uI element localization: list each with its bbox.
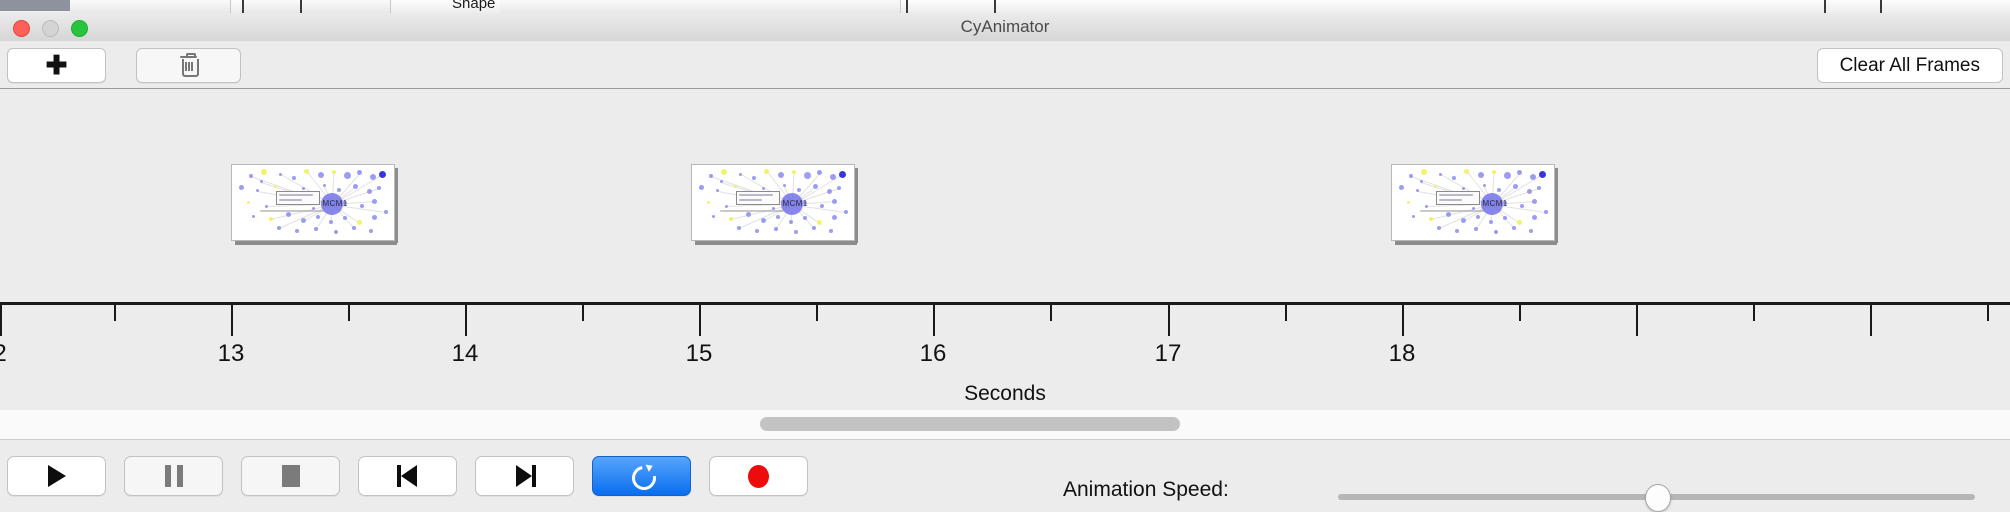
ruler-major-tick [699, 305, 701, 336]
network-node [334, 230, 338, 234]
network-node [1476, 215, 1480, 219]
network-node [274, 185, 277, 188]
network-node [844, 210, 848, 214]
frame-track[interactable]: MCM1MCM1MCM1 [0, 89, 2010, 302]
network-tooltip-text-line [1439, 199, 1462, 201]
network-node [302, 187, 305, 190]
network-node [377, 186, 381, 190]
ruler-tick-label: 14 [452, 340, 479, 368]
animation-speed-slider[interactable] [1338, 494, 1975, 500]
network-node [372, 199, 377, 204]
network-node [265, 205, 268, 208]
add-frame-button[interactable]: ✚ [7, 48, 106, 83]
network-node [301, 218, 306, 223]
ruler-minor-tick [348, 305, 350, 321]
network-node [761, 218, 766, 223]
network-node [1464, 169, 1469, 174]
network-node [1412, 215, 1415, 218]
window-title: CyAnimator [0, 13, 2010, 41]
ruler-minor-tick [816, 305, 818, 321]
record-icon [748, 465, 769, 488]
network-node [1504, 172, 1511, 179]
network-node [794, 230, 798, 234]
network-node [1437, 226, 1441, 230]
ruler-major-tick [231, 305, 233, 336]
network-node [739, 173, 742, 176]
network-node [1474, 227, 1478, 231]
network-node [830, 174, 836, 180]
network-node [269, 217, 273, 221]
network-node [318, 172, 324, 178]
network-node [812, 226, 816, 230]
frame-thumbnail: MCM1 [231, 164, 395, 241]
network-node [329, 220, 333, 224]
ruler-tick-label: 17 [1155, 340, 1182, 368]
timeline-frame[interactable]: MCM1 [691, 164, 853, 239]
timeline-frame[interactable]: MCM1 [1391, 164, 1553, 239]
background-selected-tab [0, 0, 70, 11]
background-divider [906, 0, 908, 13]
ruler-minor-tick [1285, 305, 1287, 321]
network-node [797, 188, 801, 192]
network-node [729, 217, 733, 221]
ruler-tick-label: 15 [686, 340, 713, 368]
toolbar: ✚ Clear All Frames [0, 41, 2010, 88]
network-node [725, 205, 728, 208]
loop-icon [630, 464, 654, 488]
stop-button[interactable] [241, 456, 340, 496]
network-node [1544, 210, 1548, 214]
network-node [344, 172, 351, 179]
ruler-tick-label: 13 [218, 340, 245, 368]
background-divider [1880, 0, 1882, 13]
ruler-major-tick [1168, 305, 1170, 336]
network-node [295, 229, 299, 233]
frame-thumbnail: MCM1 [1391, 164, 1555, 241]
cyanimator-window: Shape CyAnimator ✚ Clear All Frames MCM1… [0, 0, 2010, 510]
network-node [804, 172, 811, 179]
network-node [1492, 170, 1496, 174]
network-node [783, 184, 786, 187]
network-node [316, 215, 320, 219]
plus-icon: ✚ [46, 52, 68, 78]
network-node [260, 180, 263, 183]
network-node [792, 170, 796, 174]
timeline-frame[interactable]: MCM1 [231, 164, 393, 239]
frame-thumbnail: MCM1 [691, 164, 855, 241]
network-node [829, 229, 833, 233]
network-node [1455, 229, 1459, 233]
network-node [369, 229, 373, 233]
network-tooltip-text-line [1439, 194, 1473, 196]
play-button[interactable] [7, 456, 106, 496]
network-node [774, 227, 778, 231]
network-node [832, 199, 837, 204]
network-node [755, 229, 759, 233]
network-node [839, 171, 846, 178]
network-node [1529, 229, 1533, 233]
network-node [817, 170, 822, 175]
network-node [252, 215, 255, 218]
ruler-major-tick [0, 305, 2, 336]
ruler-minor-tick [1519, 305, 1521, 321]
network-node [379, 171, 386, 178]
network-node [370, 174, 376, 180]
network-node [304, 169, 309, 174]
network-node [1497, 188, 1501, 192]
network-node [1434, 185, 1437, 188]
animation-speed-label: Animation Speed: [1063, 478, 1229, 502]
network-node [1407, 201, 1410, 204]
network-node [752, 176, 756, 180]
timeline-scrollbar[interactable] [0, 410, 2010, 440]
network-node [337, 188, 341, 192]
network-node [314, 227, 318, 231]
network-tooltip-text-line [279, 199, 302, 201]
network-node [277, 226, 281, 230]
network-tooltip-box [736, 191, 780, 205]
stop-icon [282, 465, 300, 487]
network-node [261, 169, 267, 175]
network-node [1461, 218, 1466, 223]
title-bar: CyAnimator [0, 13, 2010, 42]
ruler-major-tick [465, 305, 467, 336]
ruler-tick-label: 18 [1389, 340, 1416, 368]
network-node [1425, 205, 1428, 208]
network-node [1520, 204, 1524, 208]
network-node [817, 220, 822, 225]
next-frame-button[interactable] [475, 456, 574, 496]
network-node [1452, 176, 1456, 180]
network-node [832, 215, 837, 220]
network-node [286, 212, 291, 217]
ruler-major-tick [1870, 305, 1872, 336]
playback-toolbar: Animation Speed: [0, 439, 2010, 511]
ruler-major-tick [933, 305, 935, 336]
pause-icon [165, 465, 183, 487]
background-window-strip: Shape [0, 0, 2010, 13]
network-node [827, 189, 832, 194]
network-node [1530, 174, 1536, 180]
network-hub-label: MCM1 [1482, 199, 1507, 208]
network-node [820, 204, 824, 208]
network-tooltip-box [1436, 191, 1480, 205]
play-icon [48, 465, 66, 487]
animation-speed-knob[interactable] [1645, 484, 1671, 512]
network-node [360, 204, 364, 208]
network-node [1517, 170, 1522, 175]
trash-icon [180, 56, 197, 76]
network-node [357, 220, 362, 225]
network-node [1429, 217, 1433, 221]
network-tooltip-text-line [739, 194, 773, 196]
background-window-label: Shape [452, 0, 495, 12]
background-tab [70, 0, 171, 13]
network-node [734, 185, 737, 188]
network-tooltip-box [276, 191, 320, 205]
network-node [1446, 212, 1451, 217]
ruler-minor-tick [114, 305, 116, 321]
network-node [762, 187, 765, 190]
scrollbar-thumb[interactable] [760, 417, 1180, 431]
loop-button[interactable] [592, 456, 691, 496]
network-node [1539, 171, 1546, 178]
ruler-axis-line [0, 302, 2010, 305]
skip-next-icon [514, 465, 536, 487]
background-tab [170, 0, 231, 13]
network-node [699, 185, 704, 190]
background-tab [300, 0, 391, 13]
network-node [1532, 199, 1537, 204]
network-node [764, 169, 769, 174]
network-node [1494, 230, 1498, 234]
network-node [837, 186, 841, 190]
network-node [1537, 186, 1541, 190]
ruler-minor-tick [582, 305, 584, 321]
ruler-tick-label: 2 [0, 340, 7, 368]
network-node [239, 185, 244, 190]
network-node [1439, 173, 1442, 176]
clear-all-frames-button[interactable]: Clear All Frames [1817, 48, 2003, 83]
ruler-minor-tick [1753, 305, 1755, 321]
network-node [1462, 187, 1465, 190]
ruler-major-tick [1636, 305, 1638, 336]
skip-previous-icon [397, 465, 419, 487]
ruler-minor-tick [1050, 305, 1052, 321]
ruler-minor-tick [1987, 305, 1989, 321]
network-node [721, 169, 727, 175]
network-node [737, 226, 741, 230]
network-node [352, 226, 356, 230]
network-node [1527, 189, 1532, 194]
network-node [323, 184, 326, 187]
network-node [1517, 220, 1522, 225]
ruler-tick-label: 16 [920, 340, 947, 368]
network-node [1483, 184, 1486, 187]
network-node [332, 170, 336, 174]
ruler-major-tick [1402, 305, 1404, 336]
network-node [1399, 185, 1404, 190]
background-divider [1824, 0, 1826, 13]
network-node [247, 201, 250, 204]
delete-frame-button[interactable] [136, 48, 241, 83]
clear-all-frames-label: Clear All Frames [1840, 55, 1980, 77]
previous-frame-button[interactable] [358, 456, 457, 496]
network-node [712, 215, 715, 218]
network-tooltip-text-line [279, 194, 313, 196]
network-node [789, 220, 793, 224]
network-tooltip-text-line [739, 199, 762, 201]
network-caption-line [1420, 210, 1485, 212]
network-node [813, 184, 818, 189]
network-node [1532, 215, 1537, 220]
network-node [279, 173, 282, 176]
network-node [372, 215, 377, 220]
network-node [357, 170, 362, 175]
network-node [1512, 226, 1516, 230]
network-node [367, 189, 372, 194]
time-ruler: Seconds 2131415161718 [0, 302, 2010, 411]
network-hub-label: MCM1 [322, 199, 347, 208]
axis-title: Seconds [0, 382, 2010, 406]
background-divider [242, 0, 244, 13]
network-node [1421, 169, 1427, 175]
network-node [707, 201, 710, 204]
network-caption-line [260, 210, 325, 212]
background-divider [300, 0, 302, 13]
network-node [384, 210, 388, 214]
network-hub-label: MCM1 [782, 199, 807, 208]
network-node [292, 176, 296, 180]
network-node [720, 180, 723, 183]
network-node [776, 215, 780, 219]
network-node [1478, 172, 1484, 178]
network-node [746, 212, 751, 217]
network-node [1489, 220, 1493, 224]
timeline-panel[interactable]: MCM1MCM1MCM1 Seconds 2131415161718 [0, 88, 2010, 412]
pause-button[interactable] [124, 456, 223, 496]
background-divider [994, 0, 996, 13]
network-node [353, 184, 358, 189]
network-node [778, 172, 784, 178]
network-node [1420, 180, 1423, 183]
background-tab [240, 0, 301, 13]
network-node [1513, 184, 1518, 189]
background-tab [500, 0, 901, 13]
network-caption-line [720, 210, 785, 212]
record-button[interactable] [709, 456, 808, 496]
